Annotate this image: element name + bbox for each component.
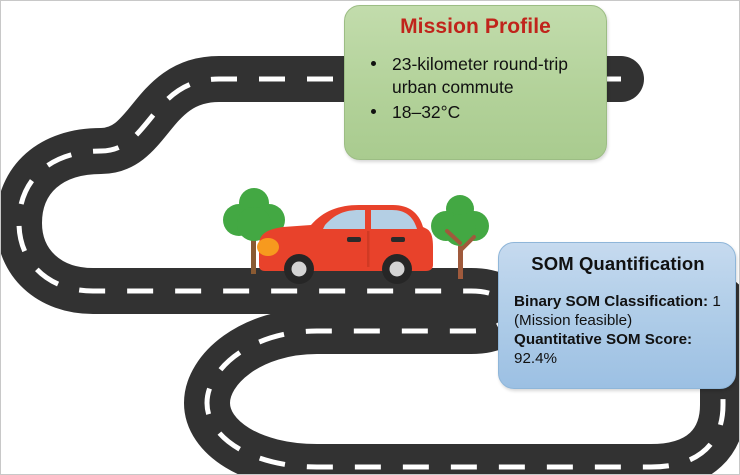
mission-profile-title: Mission Profile — [359, 15, 592, 39]
bullet-dot-icon — [371, 109, 376, 114]
car-headlight — [257, 238, 279, 256]
car-b-pillar — [365, 210, 370, 229]
bullet-dot-icon — [371, 61, 376, 66]
quantitative-som-score-label: Quantitative SOM Score: — [514, 331, 692, 348]
binary-som-classification-label: Binary SOM Classification: — [514, 293, 708, 310]
binary-som-classification-row: Binary SOM Classification: 1 — [514, 293, 722, 312]
som-quantification-callout: SOM Quantification Binary SOM Classifica… — [498, 242, 736, 389]
tree-foliage — [431, 195, 489, 246]
tree-right — [429, 193, 491, 279]
som-quantification-title: SOM Quantification — [514, 253, 722, 275]
quantitative-som-score-value: 92.4% — [514, 350, 722, 369]
car-door-seam — [367, 231, 370, 267]
list-item-label: 18–32°C — [392, 102, 460, 122]
mission-profile-bullet-list: 23-kilometer round-trip urban commute 18… — [359, 53, 592, 124]
mission-profile-callout: Mission Profile 23-kilometer round-trip … — [344, 5, 607, 160]
list-item: 23-kilometer round-trip urban commute — [359, 53, 592, 99]
red-car — [253, 199, 435, 285]
quantitative-som-score-row: Quantitative SOM Score: — [514, 331, 722, 350]
mission-profile-figure: Mission Profile 23-kilometer round-trip … — [0, 0, 740, 475]
list-item: 18–32°C — [359, 101, 592, 124]
binary-som-classification-value: 1 — [712, 293, 720, 310]
mission-feasible-note: (Mission feasible) — [514, 312, 722, 331]
list-item-label: 23-kilometer round-trip urban commute — [392, 54, 568, 97]
